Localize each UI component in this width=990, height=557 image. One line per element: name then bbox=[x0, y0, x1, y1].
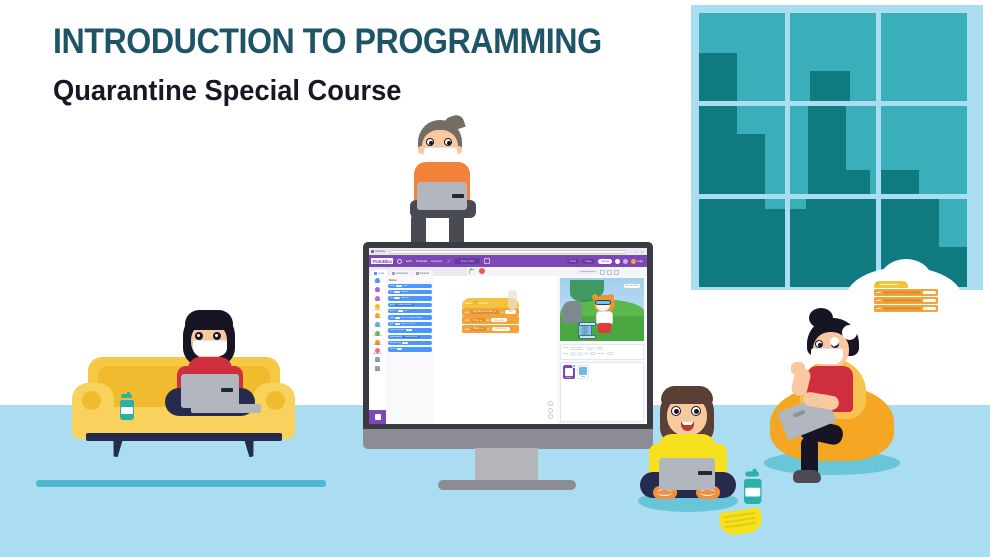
block-to: to bbox=[501, 310, 504, 314]
category-motion[interactable]: Motion bbox=[369, 278, 386, 285]
set-block[interactable]: set Place to Anywhere bbox=[462, 325, 519, 333]
category-label: Events bbox=[375, 310, 381, 312]
block-to: to bbox=[488, 327, 491, 331]
costume-icon bbox=[392, 272, 395, 275]
x-input[interactable] bbox=[587, 347, 593, 351]
extension-video[interactable]: Video bbox=[369, 357, 386, 364]
monitor-chin bbox=[363, 429, 653, 449]
girl-on-couch bbox=[165, 310, 255, 420]
ide-tabs: Code Costumes Sounds bbox=[369, 267, 467, 276]
fullscreen-icon[interactable] bbox=[614, 270, 619, 275]
laptop-touchpad bbox=[698, 471, 712, 475]
thought-set-block bbox=[874, 289, 938, 296]
category-sensing[interactable]: Sensing bbox=[369, 322, 386, 329]
variable-dropdown[interactable]: Place bbox=[471, 327, 486, 331]
size-label: Size bbox=[585, 353, 589, 355]
fist bbox=[791, 362, 805, 375]
sprite-info-panel: Sprite x y Show Size bbox=[560, 344, 644, 360]
tab-code-label: Code bbox=[378, 272, 384, 275]
zoom-in-icon[interactable] bbox=[548, 401, 553, 406]
close-icon[interactable]: × bbox=[641, 250, 643, 254]
tab-sounds-label: Sounds bbox=[420, 272, 429, 275]
delete-sprite-icon[interactable] bbox=[572, 364, 576, 368]
gear-icon[interactable] bbox=[615, 259, 620, 264]
menu-edit[interactable]: Edit bbox=[406, 259, 411, 263]
palette-block[interactable]: turn15degrees bbox=[388, 296, 432, 300]
green-flag-icon bbox=[474, 301, 478, 305]
eye bbox=[444, 138, 452, 146]
speech-bubble: Hi! I am Tobi bbox=[623, 283, 641, 289]
category-label: Sensing bbox=[374, 327, 381, 329]
ide-titlebar: Pictoblox – □ × bbox=[369, 248, 647, 255]
stage-rock bbox=[562, 301, 582, 323]
boy-on-monitor bbox=[400, 120, 486, 250]
add-extension-button[interactable] bbox=[369, 410, 386, 424]
upload-button[interactable]: Upload bbox=[598, 259, 612, 264]
sprite-info-row-1: Sprite x y bbox=[563, 347, 641, 351]
settings-icon[interactable] bbox=[623, 259, 628, 264]
palette-block[interactable]: change x by10 bbox=[388, 341, 432, 345]
hair-bangs bbox=[185, 310, 233, 330]
connect-wand-icon[interactable] bbox=[446, 259, 451, 264]
category-operators[interactable]: Operators bbox=[369, 331, 386, 338]
thought-set-block bbox=[874, 305, 938, 312]
illustration-canvas: INTRODUCTION TO PROGRAMMING Quarantine S… bbox=[0, 0, 990, 557]
hand-sanitizer-couch bbox=[120, 392, 134, 420]
green-flag-icon bbox=[876, 283, 879, 286]
account-button[interactable]: Login bbox=[631, 259, 643, 264]
zoom-reset-icon[interactable] bbox=[548, 414, 553, 419]
laptop-touchpad bbox=[793, 410, 806, 418]
girl-on-floor bbox=[640, 386, 736, 516]
category-label: Operators bbox=[373, 336, 381, 338]
size-input[interactable] bbox=[590, 352, 596, 356]
thought-bubble bbox=[846, 267, 962, 337]
eye bbox=[195, 332, 203, 340]
sprite-goggles bbox=[595, 300, 611, 305]
menu-tutorials[interactable]: Tutorials bbox=[416, 259, 427, 263]
thought-code-blocks bbox=[874, 281, 938, 312]
small-stage-icon[interactable] bbox=[600, 270, 605, 275]
sound-icon bbox=[416, 272, 419, 275]
sprite-name: Drum bbox=[581, 376, 585, 378]
sprite-card-sprite1[interactable]: Sprite1 bbox=[563, 365, 575, 379]
ide-menubar: PictoBlox Edit Tutorials Connect Drum To… bbox=[369, 255, 647, 267]
hand-sanitizer-floor bbox=[744, 469, 762, 504]
thought-set-block bbox=[874, 297, 938, 304]
app-icon bbox=[371, 250, 374, 253]
thought-dot bbox=[842, 325, 857, 340]
category-label: Motion bbox=[375, 283, 381, 285]
face-mask-icon bbox=[424, 147, 457, 162]
category-label: Sound bbox=[375, 301, 380, 303]
window-pane bbox=[881, 13, 967, 101]
window-pane bbox=[881, 106, 967, 194]
sprite-label: Sprite bbox=[563, 347, 568, 349]
script-workspace[interactable]: whenclicked set Any kid can code to Yes … bbox=[434, 276, 557, 424]
category-looks[interactable]: Looks bbox=[369, 287, 386, 294]
laptop bbox=[181, 374, 239, 408]
laptop-base bbox=[191, 404, 261, 413]
palette-block[interactable]: go torandom position bbox=[388, 303, 432, 307]
menu-connect[interactable]: Connect bbox=[431, 259, 442, 263]
maximize-icon[interactable]: □ bbox=[635, 250, 637, 254]
zoom-controls[interactable] bbox=[548, 401, 553, 419]
stop-icon[interactable] bbox=[479, 268, 485, 274]
category-label: My Blocks bbox=[373, 354, 382, 356]
laptop bbox=[659, 458, 715, 490]
window-pane bbox=[790, 13, 876, 101]
stage-button[interactable]: Stage bbox=[582, 259, 595, 264]
sprite-thumbnail bbox=[579, 367, 587, 375]
address-bar[interactable] bbox=[390, 250, 626, 254]
direction-label: Direction bbox=[597, 353, 605, 355]
project-name-field[interactable]: Drum Tobi bbox=[455, 258, 480, 264]
eye bbox=[815, 340, 823, 348]
block-category-list: Motion Looks Sound Events Control Sensin… bbox=[369, 276, 386, 424]
window-title-text: Pictoblox bbox=[375, 250, 386, 253]
extension-music[interactable]: Music bbox=[369, 366, 386, 373]
window-background bbox=[691, 5, 983, 290]
desktop-monitor: Pictoblox – □ × PictoBlox Edit Tutorials… bbox=[363, 242, 653, 438]
pictoblox-ide: Pictoblox – □ × PictoBlox Edit Tutorials… bbox=[369, 248, 647, 424]
stage-sprite-drum bbox=[578, 322, 592, 339]
variable-dropdown[interactable]: Any kid can code bbox=[471, 310, 499, 314]
pictoblox-logo[interactable]: PictoBlox bbox=[371, 258, 393, 264]
subtitle-text: Quarantine Special Course bbox=[53, 77, 614, 106]
window-pane bbox=[699, 199, 785, 287]
extension-label: Video bbox=[375, 362, 380, 364]
eye bbox=[426, 138, 434, 146]
palette-block[interactable]: glide1secs to x: 0 y: 0 bbox=[388, 322, 432, 326]
floor-line bbox=[36, 480, 326, 487]
window-controls[interactable]: – □ × bbox=[630, 250, 645, 254]
window-pane bbox=[699, 106, 785, 194]
block-keyword: set bbox=[465, 310, 469, 314]
menubar-right: Mode Stage Upload Login bbox=[567, 259, 645, 264]
face-mask-icon bbox=[811, 348, 843, 364]
stage-panel: Hi! I am Tobi Sprite x y Show bbox=[557, 276, 647, 424]
x-label: x bbox=[584, 347, 585, 349]
tab-costumes-label: Costumes bbox=[396, 272, 408, 275]
palette-block[interactable]: move10steps bbox=[388, 284, 432, 288]
block-keyword: set bbox=[465, 318, 469, 322]
monitor-base bbox=[438, 480, 576, 490]
new-project-icon[interactable] bbox=[484, 258, 490, 264]
face-mask-icon bbox=[193, 340, 227, 356]
sprite-name: Sprite1 bbox=[566, 377, 571, 379]
category-label: Looks bbox=[375, 292, 380, 294]
palette-block[interactable]: go to x:0y: 0 bbox=[388, 309, 432, 313]
y-input[interactable] bbox=[597, 347, 603, 351]
block-to: to bbox=[487, 318, 490, 322]
y-label: y bbox=[594, 347, 595, 349]
category-label: Control bbox=[374, 318, 380, 320]
category-variables[interactable]: Variables bbox=[369, 340, 386, 347]
show-toggle-off[interactable] bbox=[577, 352, 583, 356]
stage-view[interactable]: Hi! I am Tobi bbox=[560, 278, 644, 341]
palette-block[interactable]: point in direction90 bbox=[388, 328, 432, 332]
window-pane bbox=[790, 106, 876, 194]
page-title: INTRODUCTION TO PROGRAMMING Quarantine S… bbox=[53, 24, 649, 106]
window-pane bbox=[699, 13, 785, 101]
category-control[interactable]: Control bbox=[369, 313, 386, 320]
zoom-out-icon[interactable] bbox=[548, 408, 553, 413]
block-palette[interactable]: Motion move10steps turn15degrees turn15d… bbox=[386, 276, 434, 424]
boy-on-beanbag bbox=[795, 318, 887, 478]
block-keyword: set bbox=[465, 327, 469, 331]
eye bbox=[213, 332, 221, 340]
eye bbox=[691, 406, 701, 416]
variable-dropdown[interactable]: Time bbox=[471, 318, 485, 322]
sprite-watermark bbox=[508, 290, 517, 310]
stage-control-row: Lesson Preview bbox=[577, 268, 647, 276]
monitor-stand bbox=[475, 448, 538, 483]
set-block[interactable]: set Time to Any time bbox=[462, 316, 519, 324]
mode-button[interactable]: Mode bbox=[567, 259, 580, 264]
thought-dot-small bbox=[830, 337, 839, 346]
sofa-arm-detail bbox=[82, 391, 101, 410]
thought-hat-block bbox=[874, 281, 908, 288]
sprite-card-drum[interactable]: Drum bbox=[577, 365, 589, 379]
palette-header: Motion bbox=[389, 279, 432, 282]
large-stage-icon[interactable] bbox=[607, 270, 612, 275]
minimize-icon[interactable]: – bbox=[630, 250, 632, 254]
show-label: Show bbox=[563, 353, 568, 355]
monitor-screen: Pictoblox – □ × PictoBlox Edit Tutorials… bbox=[369, 248, 647, 424]
palette-block[interactable]: turn15degrees bbox=[388, 290, 432, 294]
stage-sprite-tobi bbox=[592, 295, 618, 335]
block-value[interactable]: Yes bbox=[505, 310, 515, 314]
sprite-name-input[interactable] bbox=[570, 347, 583, 351]
window-title: Pictoblox bbox=[371, 250, 386, 253]
laptop-touchpad bbox=[452, 194, 464, 198]
shoe bbox=[793, 470, 821, 483]
code-icon bbox=[374, 272, 377, 275]
category-sound[interactable]: Sound bbox=[369, 296, 386, 303]
title-text: INTRODUCTION TO PROGRAMMING bbox=[53, 24, 602, 59]
sprite-list[interactable]: Sprite1 Drum bbox=[560, 362, 644, 422]
hair-bangs bbox=[661, 386, 713, 404]
sprite-thumbnail bbox=[565, 368, 573, 376]
lesson-preview-button[interactable]: Lesson Preview bbox=[577, 270, 598, 274]
account-label: Login bbox=[637, 260, 643, 263]
eye bbox=[671, 406, 681, 416]
category-label: Variables bbox=[374, 345, 382, 347]
direction-input[interactable] bbox=[607, 352, 613, 356]
laptop bbox=[417, 182, 467, 210]
palette-block[interactable]: glide1secs to random position bbox=[388, 315, 432, 319]
sofa-arm-detail bbox=[266, 391, 285, 410]
sprite-info-row-2: Show Size Direction bbox=[563, 352, 641, 356]
palette-block[interactable]: set x to0 bbox=[388, 347, 432, 351]
block-value[interactable]: Any time bbox=[491, 318, 507, 322]
category-my-blocks[interactable]: My Blocks bbox=[369, 348, 386, 355]
show-toggle-on[interactable] bbox=[570, 352, 576, 356]
avatar bbox=[631, 259, 636, 264]
category-events[interactable]: Events bbox=[369, 304, 386, 311]
green-flag-icon[interactable] bbox=[469, 268, 475, 274]
extension-label: Music bbox=[375, 371, 380, 373]
laptop-touchpad bbox=[221, 388, 233, 392]
block-value[interactable]: Anywhere bbox=[492, 327, 510, 331]
language-globe-icon[interactable] bbox=[397, 259, 402, 264]
add-extension-icon bbox=[375, 414, 381, 420]
palette-block[interactable]: point towardsmouse-pointer bbox=[388, 335, 432, 339]
